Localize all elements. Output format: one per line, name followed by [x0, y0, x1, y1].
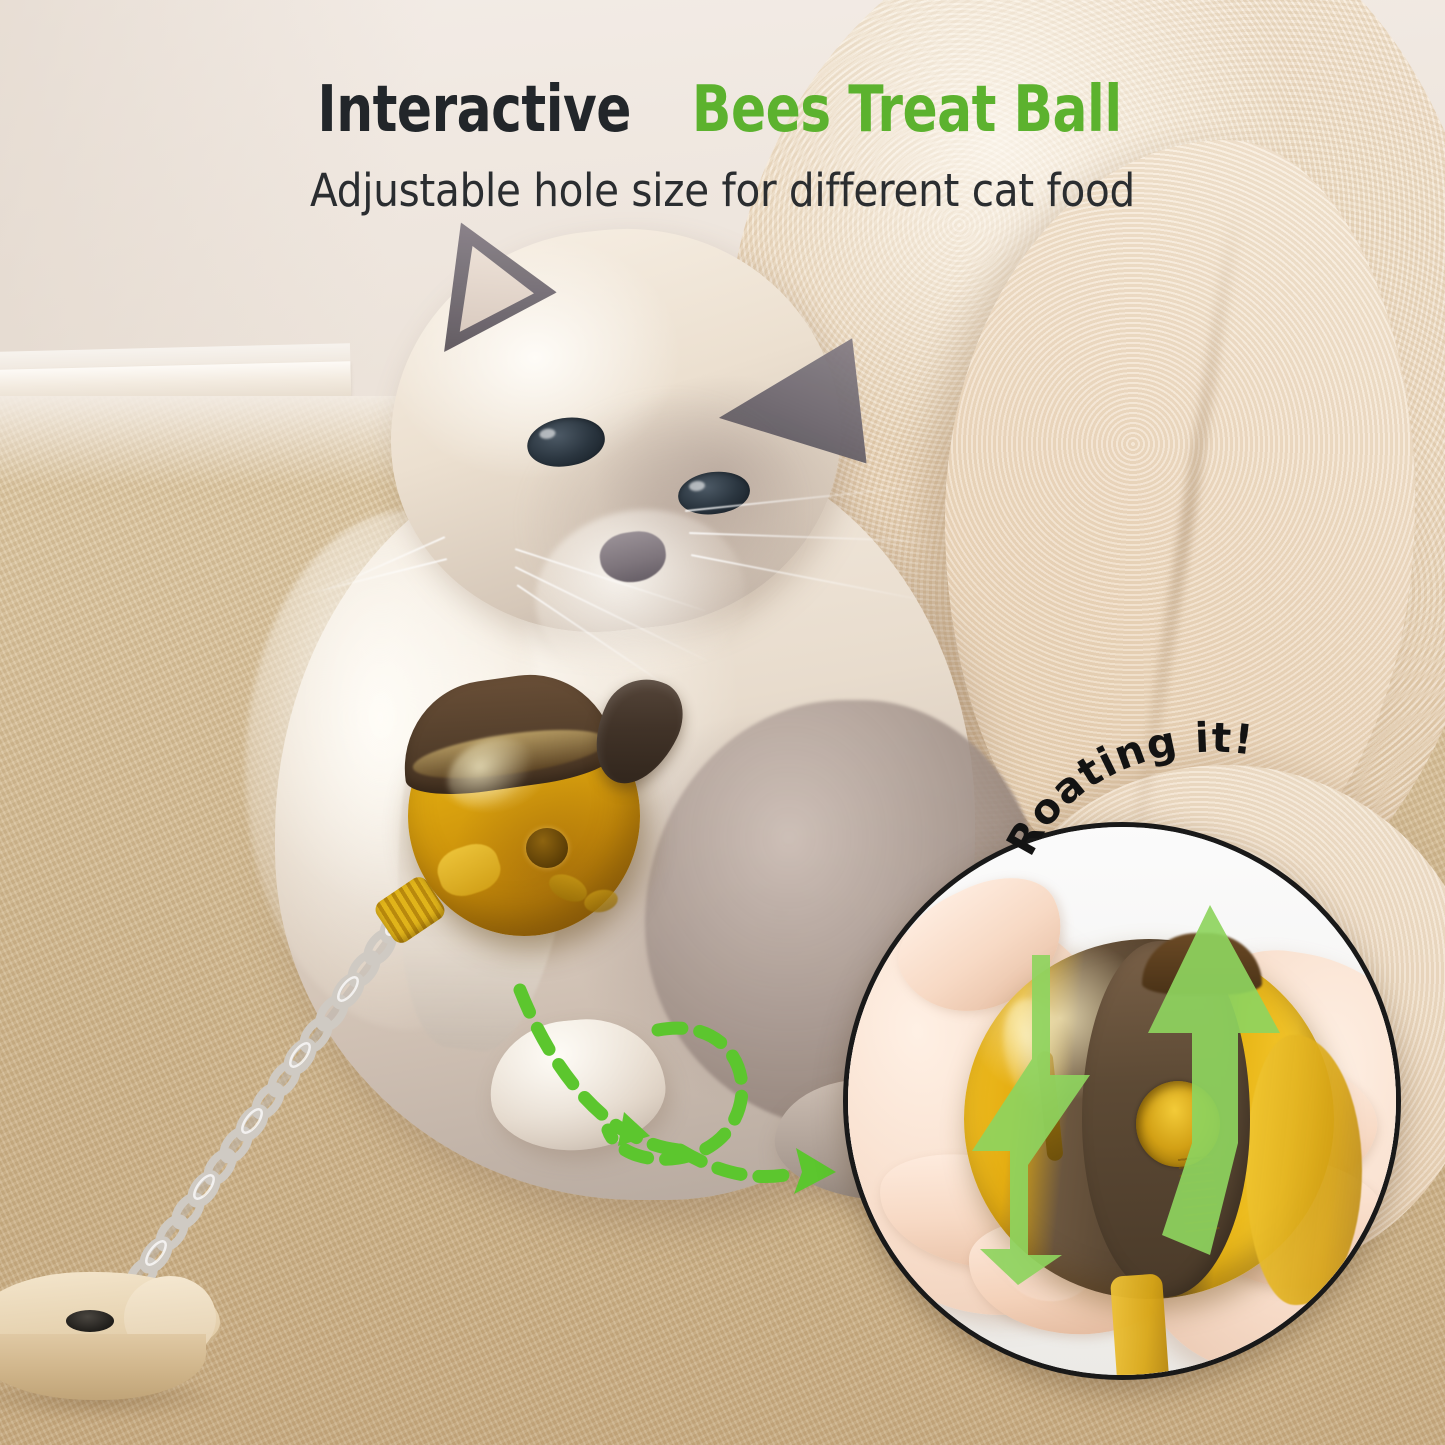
page-title: Interactive Bees Treat Ball — [0, 78, 1445, 142]
product-marketing-image: Roating it! Interactive Bees Treat Ball … — [0, 0, 1445, 1445]
treat-ball-hole — [526, 828, 568, 868]
rotate-up-arrow-icon — [1114, 905, 1284, 1260]
motion-arrow — [500, 980, 860, 1220]
rotating-it-curved-label: Roating it! — [1010, 716, 1430, 906]
page-subtitle: Adjustable hole size for different cat f… — [72, 168, 1373, 213]
rotating-it-text: Roating it! — [997, 714, 1257, 864]
inset-ball-stem — [1110, 1273, 1170, 1380]
title-lead: Interactive — [317, 78, 631, 142]
title-highlight: Bees Treat Ball — [692, 78, 1122, 142]
rotate-down-arrow-icon — [966, 955, 1116, 1290]
base-hub — [66, 1310, 114, 1332]
wooden-base — [0, 1272, 220, 1412]
coil-spring — [108, 905, 418, 1305]
treat-ball-toy — [398, 668, 698, 968]
